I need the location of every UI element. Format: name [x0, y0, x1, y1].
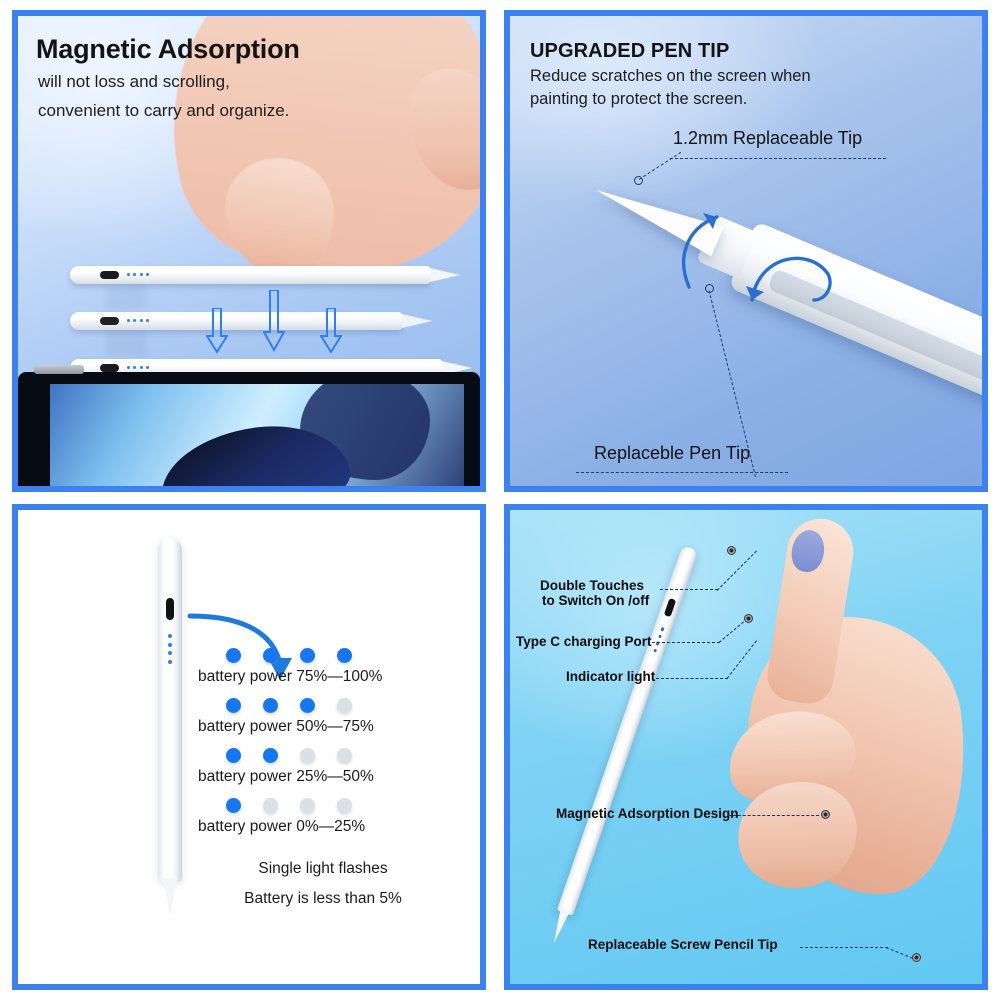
usb-c-port-icon	[100, 364, 119, 372]
battery-level-label: battery power 50%—75%	[198, 718, 448, 736]
usb-c-port-icon	[166, 598, 174, 620]
battery-note-single-flash: Single light flashes	[198, 860, 448, 878]
stylus-shadow	[106, 330, 146, 356]
pen-shaft	[158, 538, 182, 882]
battery-note-less-than-5: Battery is less than 5%	[198, 890, 448, 908]
indicator-leds	[168, 634, 172, 664]
stylus-pen	[70, 312, 402, 330]
battery-dot-off	[337, 698, 352, 713]
callout-anchor-marker	[912, 953, 921, 962]
callout-anchor-marker	[727, 546, 736, 555]
battery-level-list: battery power 75%—100% battery power 50%…	[198, 648, 448, 908]
callout-label-indicator-light: Indicator light	[566, 669, 655, 684]
pentip-title: UPGRADED PEN TIP	[530, 40, 729, 63]
battery-level-row: battery power 25%—50%	[198, 748, 448, 786]
callout-anchor-marker	[744, 614, 753, 623]
pentip-subtitle-line1: Reduce scratches on the screen when	[530, 67, 811, 86]
callout-label-type-c-port: Type C charging Port	[516, 634, 652, 649]
callout-label-switch-line2: to Switch On /off	[542, 593, 649, 608]
callout-label-replaceable-pen-tip: Replaceble Pen Tip	[594, 443, 750, 464]
battery-dots	[198, 748, 448, 763]
panel-feature-callouts: Double Touches to Switch On /off Type C …	[504, 504, 988, 990]
battery-dots	[198, 648, 448, 663]
callout-underline	[670, 158, 886, 159]
battery-level-label: battery power 75%—100%	[198, 668, 448, 686]
pentip-subtitle-line2: painting to protect the screen.	[530, 90, 747, 109]
panel-pentip-background: 1.2mm Replaceable Tip Replaceble Pen Tip…	[510, 16, 982, 486]
tablet-screen	[50, 384, 464, 486]
tablet-device	[18, 372, 480, 486]
callout-leader-line	[728, 815, 824, 816]
battery-dot-on	[263, 748, 278, 763]
battery-dot-off	[337, 748, 352, 763]
battery-level-label: battery power 0%—25%	[198, 818, 448, 836]
battery-dots	[198, 798, 448, 813]
battery-dot-off	[263, 798, 278, 813]
pen-nib	[163, 878, 177, 916]
callout-label-replaceable-tip: 1.2mm Replaceable Tip	[673, 128, 862, 149]
panel-magnetic-adsorption: Magnetic Adsorption will not loss and sc…	[12, 10, 486, 492]
hand-knuckle	[392, 52, 480, 205]
panel-magnetic-background: Magnetic Adsorption will not loss and sc…	[18, 16, 480, 486]
stylus-pen	[70, 266, 430, 284]
callout-leader-line	[656, 678, 728, 679]
callout-label-screw-pencil-tip: Replaceable Screw Pencil Tip	[588, 937, 778, 952]
tablet-top-edge	[34, 365, 84, 374]
callout-label-magnetic-design: Magnetic Adsorption Design	[556, 806, 739, 821]
hand-holding-pen	[690, 520, 982, 950]
battery-level-label: battery power 25%—50%	[198, 768, 448, 786]
arrow-down-icon	[263, 290, 285, 352]
battery-dot-off	[300, 798, 315, 813]
rotate-arrow-icon	[673, 211, 735, 297]
callout-underline	[576, 472, 788, 473]
usb-c-port-icon	[100, 271, 119, 279]
battery-level-row: battery power 50%—75%	[198, 698, 448, 736]
battery-dot-on	[226, 798, 241, 813]
battery-dot-on	[337, 648, 352, 663]
panel-battery-indicator: battery power 75%—100% battery power 50%…	[12, 504, 486, 990]
indicator-leds	[127, 319, 149, 323]
battery-dot-on	[226, 698, 241, 713]
indicator-leds	[127, 273, 149, 277]
usb-c-port-icon	[100, 317, 119, 325]
infographic-sheet: Magnetic Adsorption will not loss and sc…	[0, 0, 1000, 1000]
stylus-shadow	[106, 284, 146, 310]
battery-dot-on	[226, 748, 241, 763]
panel-features-background: Double Touches to Switch On /off Type C …	[510, 510, 982, 984]
battery-dot-on	[263, 648, 278, 663]
arrow-down-icon	[320, 308, 342, 354]
battery-dot-off	[337, 798, 352, 813]
battery-dot-on	[263, 698, 278, 713]
callout-anchor-marker	[821, 810, 830, 819]
callout-leader-line	[652, 642, 720, 643]
page-title: Magnetic Adsorption	[36, 34, 300, 65]
panel-battery-background: battery power 75%—100% battery power 50%…	[18, 510, 480, 984]
rotate-arrow-icon	[742, 244, 838, 318]
battery-level-row: battery power 0%—25%	[198, 798, 448, 836]
callout-leader-line	[800, 947, 888, 948]
battery-dots	[198, 698, 448, 713]
battery-dot-on	[226, 648, 241, 663]
indicator-leds	[127, 366, 149, 370]
battery-level-row: battery power 75%—100%	[198, 648, 448, 686]
panel-upgraded-pen-tip: 1.2mm Replaceable Tip Replaceble Pen Tip…	[504, 10, 988, 492]
battery-dot-off	[300, 748, 315, 763]
arrow-down-icon	[206, 308, 228, 354]
battery-dot-on	[300, 698, 315, 713]
battery-dot-on	[300, 648, 315, 663]
callout-leader-line	[660, 589, 718, 590]
magnetic-subtitle-line1: will not loss and scrolling,	[38, 72, 230, 92]
magnetic-subtitle-line2: convenient to carry and organize.	[38, 101, 289, 121]
callout-label-switch-line1: Double Touches	[540, 578, 644, 593]
stylus-vertical	[158, 538, 182, 918]
pen-nib	[549, 907, 570, 944]
